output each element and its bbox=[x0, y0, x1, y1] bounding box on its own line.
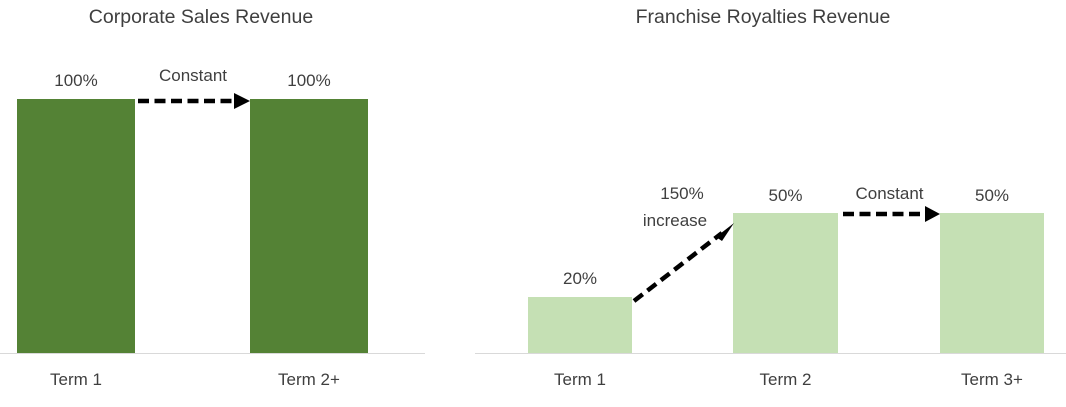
bar-franchise-term-3plus bbox=[940, 213, 1044, 353]
annotation-arrow-franchise-increase bbox=[630, 215, 740, 307]
annotation-arrow-corporate-constant bbox=[136, 92, 254, 110]
category-label-franchise-term-2: Term 2 bbox=[733, 369, 838, 391]
data-label-franchise-term-2: 50% bbox=[733, 185, 838, 206]
bar-franchise-term-1 bbox=[528, 297, 632, 353]
chart-title-franchise: Franchise Royalties Revenue bbox=[460, 4, 1066, 30]
bar-corporate-term-1 bbox=[17, 99, 135, 353]
arrow-head bbox=[234, 93, 250, 109]
chart-corporate-sales-revenue: Corporate Sales Revenue 100% 100% Consta… bbox=[0, 0, 460, 407]
arrow-head bbox=[716, 223, 734, 241]
category-label-franchise-term-1: Term 1 bbox=[528, 369, 632, 391]
annotation-label-franchise-increase-line1: 150% bbox=[627, 183, 737, 205]
category-axis-line-franchise bbox=[475, 353, 1066, 354]
data-label-franchise-term-3plus: 50% bbox=[940, 185, 1044, 206]
chart-franchise-royalties-revenue: Franchise Royalties Revenue 20% 50% 50% … bbox=[460, 0, 1066, 407]
annotation-arrow-franchise-constant bbox=[841, 205, 943, 223]
arrow-shaft bbox=[634, 233, 722, 301]
data-label-corporate-term-2plus: 100% bbox=[250, 70, 368, 91]
category-label-franchise-term-3plus: Term 3+ bbox=[940, 369, 1044, 391]
annotation-label-franchise-constant: Constant bbox=[837, 183, 942, 205]
arrow-head bbox=[925, 206, 940, 222]
annotation-label-corporate-constant: Constant bbox=[138, 65, 248, 87]
chart-title-corporate: Corporate Sales Revenue bbox=[0, 4, 431, 30]
category-label-corporate-term-1: Term 1 bbox=[17, 369, 135, 391]
bar-corporate-term-2plus bbox=[250, 99, 368, 353]
category-axis-line-corporate bbox=[0, 353, 425, 354]
category-label-corporate-term-2plus: Term 2+ bbox=[250, 369, 368, 391]
data-label-franchise-term-1: 20% bbox=[528, 268, 632, 289]
data-label-corporate-term-1: 100% bbox=[17, 70, 135, 91]
bar-franchise-term-2 bbox=[733, 213, 838, 353]
